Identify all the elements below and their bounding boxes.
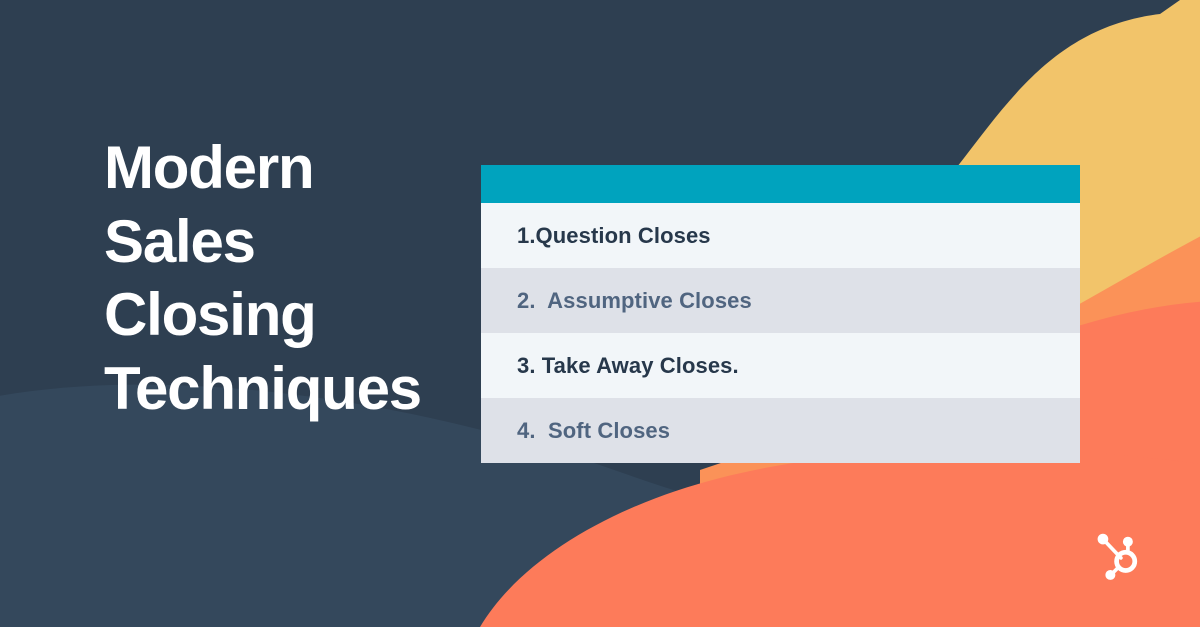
list-item[interactable]: 4. Soft Closes xyxy=(481,398,1080,463)
list-item[interactable]: 1.Question Closes xyxy=(481,203,1080,268)
title-line-4: Techniques xyxy=(104,352,464,426)
list-item[interactable]: 3. Take Away Closes. xyxy=(481,333,1080,398)
techniques-list-card: 1.Question Closes 2. Assumptive Closes 3… xyxy=(481,165,1080,463)
list-item[interactable]: 2. Assumptive Closes xyxy=(481,268,1080,333)
hubspot-sprocket-logo xyxy=(1092,529,1148,585)
title-line-2: Sales xyxy=(104,205,464,279)
title-line-3: Closing xyxy=(104,278,464,352)
title-line-1: Modern xyxy=(104,131,464,205)
poster-canvas: Modern Sales Closing Techniques 1.Questi… xyxy=(0,0,1200,627)
card-header-bar xyxy=(481,165,1080,203)
page-title: Modern Sales Closing Techniques xyxy=(104,131,464,425)
